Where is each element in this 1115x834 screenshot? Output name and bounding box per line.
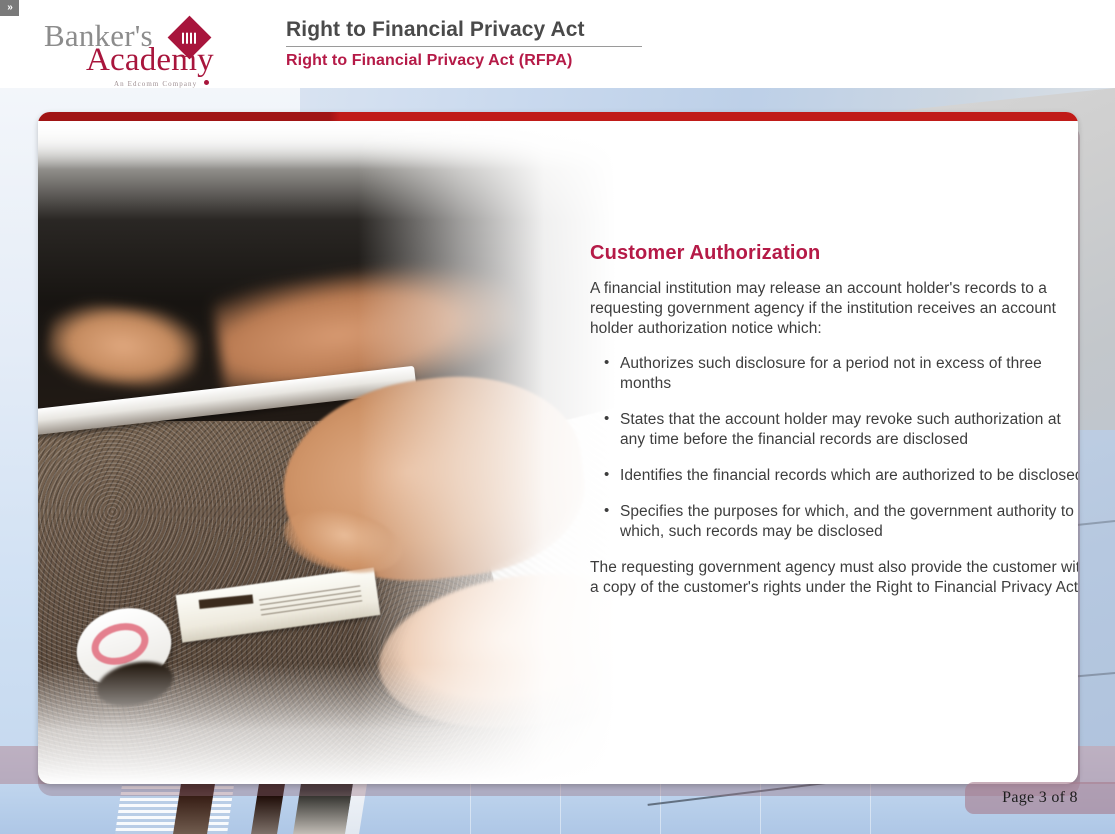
list-item: Authorizes such disclosure for a period …: [590, 354, 1078, 394]
photo-slip-text-lines: [259, 585, 363, 617]
logo-dot-icon: [204, 80, 209, 85]
slide-card: Customer Authorization A financial insti…: [38, 112, 1078, 784]
logo-tagline: An Edcomm Company: [114, 80, 197, 88]
page-indicator: Page 3 of 8: [965, 782, 1115, 814]
expand-panel-icon[interactable]: »: [0, 0, 19, 16]
authorization-bullet-list: Authorizes such disclosure for a period …: [590, 354, 1078, 542]
course-subtitle: Right to Financial Privacy Act (RFPA): [286, 52, 642, 70]
list-item: States that the account holder may revok…: [590, 410, 1078, 450]
course-title: Right to Financial Privacy Act: [286, 18, 642, 47]
slide-text-column: Customer Authorization A financial insti…: [590, 242, 1078, 613]
slide-photo: [38, 121, 658, 784]
course-player: » Banker's Academy An Edcomm Company Rig…: [0, 0, 1115, 834]
photo-background-hand-left: [44, 298, 202, 393]
logo-line-academy: Academy: [86, 44, 214, 77]
intro-paragraph: A financial institution may release an a…: [590, 279, 1078, 339]
bankers-academy-logo: Banker's Academy An Edcomm Company: [44, 20, 234, 86]
list-item: Specifies the purposes for which, and th…: [590, 502, 1078, 542]
closing-paragraph: The requesting government agency must al…: [590, 558, 1078, 598]
slide-accent-bar: [38, 112, 1078, 121]
photo-slip-magstripe: [199, 594, 254, 609]
course-titles: Right to Financial Privacy Act Right to …: [286, 18, 642, 70]
list-item: Identifies the financial records which a…: [590, 466, 1078, 486]
app-header: » Banker's Academy An Edcomm Company Rig…: [0, 0, 1115, 88]
section-title: Customer Authorization: [590, 242, 1078, 265]
